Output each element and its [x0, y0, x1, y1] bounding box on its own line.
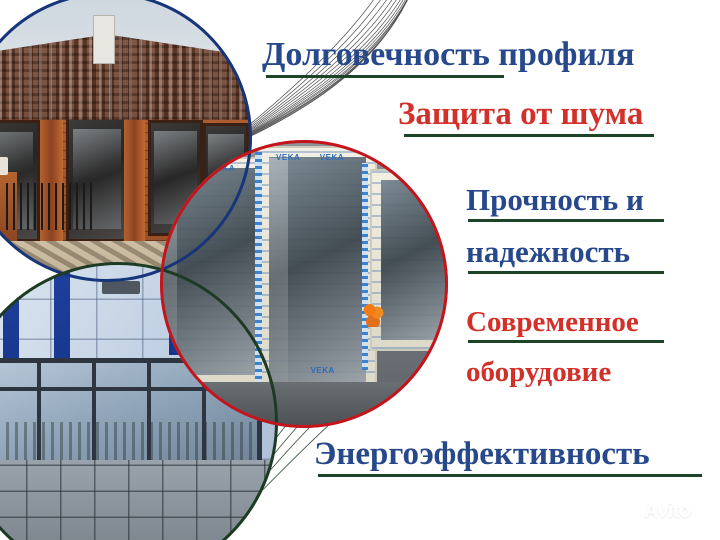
headline-line-durability: Долговечность профиля — [262, 36, 635, 78]
house-corner-post — [124, 108, 144, 259]
headline-text: Долговечность профиля — [262, 36, 635, 73]
house-lamp — [0, 157, 8, 174]
headline-text: Прочность и — [466, 182, 644, 217]
avito-dots-icon — [622, 503, 640, 521]
headline-underline — [404, 134, 654, 137]
headline-underline — [468, 271, 664, 274]
headline-text: Энергоэффективность — [314, 436, 650, 472]
headline-line-efficiency: Энергоэффективность — [314, 436, 702, 477]
headline-text: надежность — [466, 234, 630, 269]
headline-text: Защита от шума — [398, 96, 643, 132]
headline-line-equipment-1: Современное — [466, 306, 664, 343]
headline-line-strength-2: надежность — [466, 234, 664, 274]
window-orange-strap — [362, 301, 384, 327]
facade-vent — [102, 281, 140, 294]
headline-text: Современное — [466, 306, 639, 338]
headline-underline — [266, 75, 504, 78]
house-balcony-railing — [6, 183, 93, 229]
headline-underline — [468, 219, 664, 222]
banner-canvas: VEKA VEKA VEKA VEKA VEKA VEKA — [0, 0, 720, 540]
headline-underline — [318, 474, 702, 477]
headline-underline — [468, 340, 664, 343]
headline-line-strength-1: Прочность и — [466, 182, 664, 222]
headline-line-equipment-2: оборудовие — [466, 356, 611, 389]
photo-windows: VEKA VEKA VEKA VEKA VEKA VEKA — [160, 140, 448, 428]
facade-granite-plinth — [0, 460, 278, 540]
avito-watermark-text: Avito — [644, 500, 691, 523]
window-protective-tape — [362, 163, 368, 370]
window-unit: VEKA VEKA VEKA — [258, 146, 377, 398]
house-chimney — [93, 15, 115, 63]
window-protective-tape — [255, 152, 262, 394]
avito-watermark: Avito — [622, 500, 691, 523]
headline-line-noise-protection: Защита от шума — [398, 96, 654, 137]
windows-floor — [160, 382, 448, 428]
headline-text: оборудовие — [466, 356, 611, 388]
